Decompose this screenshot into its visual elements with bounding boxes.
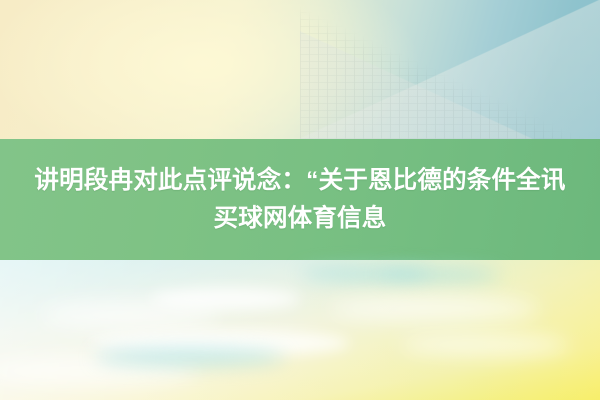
cloud-shape [400, 334, 570, 356]
cloud-shape [330, 296, 540, 322]
headline-line-2: 买球网体育信息 [214, 200, 387, 238]
cloud-wisp [95, 348, 285, 366]
promo-banner: 讲明段冉对此点评说念：“关于恩比德的条件全讯 买球网体育信息 [0, 0, 600, 400]
cloud-shape [150, 288, 300, 310]
headline-line-1: 讲明段冉对此点评说念：“关于恩比德的条件全讯 [34, 162, 565, 200]
wedge-texture-overlay [300, 0, 600, 139]
headline-band: 讲明段冉对此点评说念：“关于恩比德的条件全讯 买球网体育信息 [0, 139, 600, 260]
cloud-wisp [380, 268, 500, 282]
